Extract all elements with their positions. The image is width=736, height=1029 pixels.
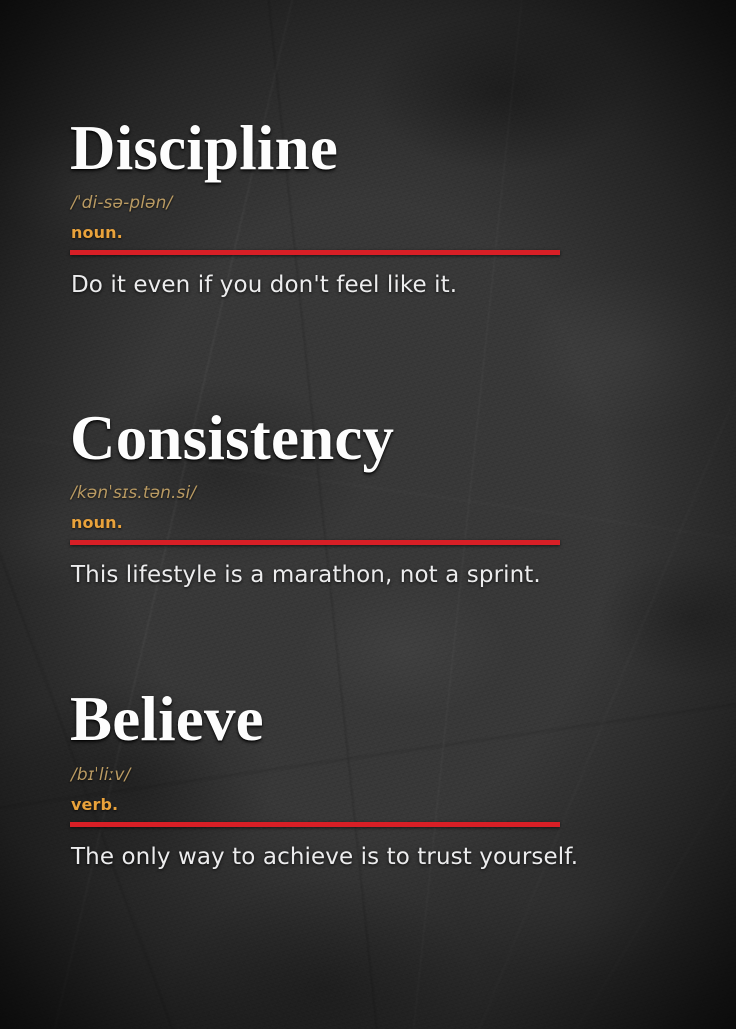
entry-phonetic: /kənˈsɪs.tən.si/ [71, 485, 736, 502]
definition-entry-discipline: Discipline /ˈdi-sə-plən/ noun. Do it eve… [70, 118, 736, 300]
entry-divider-rule [70, 540, 560, 545]
entry-word: Consistency [70, 408, 736, 469]
entry-part-of-speech: noun. [71, 225, 736, 241]
poster-content: Discipline /ˈdi-sə-plən/ noun. Do it eve… [0, 0, 736, 1029]
entry-definition: This lifestyle is a marathon, not a spri… [71, 562, 736, 590]
entry-word: Believe [70, 689, 736, 750]
definition-entry-believe: Believe /bɪˈliːv/ verb. The only way to … [70, 689, 736, 871]
definition-poster: Discipline /ˈdi-sə-plən/ noun. Do it eve… [0, 0, 736, 1029]
entry-part-of-speech: noun. [71, 515, 736, 531]
entry-divider-rule [70, 250, 560, 255]
entry-divider-rule [70, 822, 560, 827]
definition-entry-consistency: Consistency /kənˈsɪs.tən.si/ noun. This … [70, 408, 736, 590]
entry-phonetic: /bɪˈliːv/ [71, 767, 736, 784]
entry-definition: Do it even if you don't feel like it. [71, 272, 736, 300]
entry-word: Discipline [70, 118, 736, 179]
entry-spacer [70, 589, 736, 689]
entry-spacer [70, 300, 736, 408]
entry-phonetic: /ˈdi-sə-plən/ [71, 195, 736, 212]
entry-part-of-speech: verb. [71, 797, 736, 813]
entry-definition: The only way to achieve is to trust your… [71, 844, 736, 872]
